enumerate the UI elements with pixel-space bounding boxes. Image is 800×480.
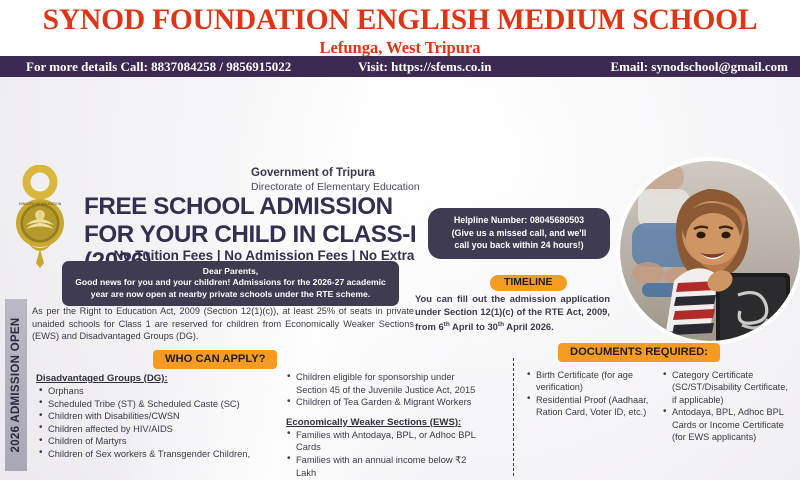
- poster-body: 2026 ADMISSION OPEN MINISTRY OF EDUCATIO…: [0, 77, 800, 480]
- list-item: Children with Disabilities/CWSN: [36, 410, 284, 423]
- dear-parents-body: Good news for you and your children! Adm…: [75, 277, 386, 298]
- rte-act-note: As per the Right to Education Act, 2009 …: [32, 305, 414, 343]
- list-item: Children eligible for sponsorship under …: [286, 371, 486, 396]
- disadvantaged-groups-title: Disadvantaged Groups (DG):: [36, 373, 284, 384]
- government-heading: Government of Tripura Directorate of Ele…: [251, 166, 420, 194]
- section-divider: [513, 358, 514, 476]
- timeline-pill: TIMELINE: [490, 275, 567, 291]
- list-item: Category Certificate (SC/ST/Disability C…: [662, 369, 792, 406]
- government-line-2: Directorate of Elementary Education: [251, 180, 420, 194]
- contact-phone: For more details Call: 8837084258 / 9856…: [0, 59, 291, 75]
- list-item: Children of Sex workers & Transgender Ch…: [36, 448, 284, 461]
- disadvantaged-groups-column: Disadvantaged Groups (DG): OrphansSchedu…: [36, 373, 284, 461]
- admission-open-ribbon-label: 2026 ADMISSION OPEN: [10, 317, 22, 452]
- list-item: Residential Proof (Aadhaar, Ration Card,…: [526, 394, 656, 419]
- school-header: SYNOD FOUNDATION ENGLISH MEDIUM SCHOOL L…: [0, 0, 800, 56]
- tripura-government-emblem-icon: MINISTRY OF EDUCATION: [6, 165, 74, 269]
- list-item: Scheduled Tribe (ST) & Scheduled Caste (…: [36, 398, 284, 411]
- list-item: Families with Antodaya, BPL, or Adhoc BP…: [286, 429, 486, 454]
- school-location: Lefunga, West Tripura: [0, 37, 800, 57]
- list-item: Children of Tea Garden & Migrant Workers: [286, 396, 486, 409]
- who-can-apply-pill: WHO CAN APPLY?: [153, 350, 277, 369]
- helpline-note-line-2: call you back within 24 hours!): [436, 239, 602, 252]
- list-item: Antodaya, BPL, Adhoc BPL Cards or Income…: [662, 406, 792, 443]
- list-item: Children affected by HIV/AIDS: [36, 423, 284, 436]
- disadvantaged-groups-list-continued: Children eligible for sponsorship under …: [286, 371, 486, 409]
- list-item: Children of Martyrs: [36, 435, 284, 448]
- ews-list: Families with Antodaya, BPL, or Adhoc BP…: [286, 429, 486, 480]
- documents-required-columns: Birth Certificate (for age verification)…: [526, 369, 794, 443]
- documents-column-2: Category Certificate (SC/ST/Disability C…: [662, 369, 792, 443]
- contact-bar: For more details Call: 8837084258 / 9856…: [0, 56, 800, 77]
- timeline-text: You can fill out the admission applicati…: [415, 293, 610, 334]
- dear-parents-title: Dear Parents,: [72, 266, 389, 277]
- helpline-card: Helpline Number: 08045680503 (Give us a …: [428, 208, 610, 259]
- government-line-1: Government of Tripura: [251, 166, 420, 180]
- documents-list-1: Birth Certificate (for age verification)…: [526, 369, 656, 419]
- timeline-text-b: April to 30: [450, 321, 498, 332]
- school-name: SYNOD FOUNDATION ENGLISH MEDIUM SCHOOL: [0, 0, 800, 37]
- timeline-text-c: April 2026.: [504, 321, 554, 332]
- admission-open-ribbon: 2026 ADMISSION OPEN: [5, 299, 27, 471]
- ews-title: Economically Weaker Sections (EWS):: [286, 417, 486, 428]
- list-item: Orphans: [36, 385, 284, 398]
- documents-required-pill: DOCUMENTS REQUIRED:: [558, 343, 720, 362]
- dear-parents-card: Dear Parents, Good news for you and your…: [62, 261, 399, 306]
- who-can-apply-right-column: Children eligible for sponsorship under …: [286, 371, 486, 480]
- contact-email[interactable]: Email: synodschool@gmail.com: [611, 59, 789, 75]
- documents-list-2: Category Certificate (SC/ST/Disability C…: [662, 369, 792, 443]
- disadvantaged-groups-list: OrphansScheduled Tribe (ST) & Scheduled …: [36, 385, 284, 461]
- student-photo: [620, 161, 800, 341]
- contact-website[interactable]: Visit: https://sfems.co.in: [358, 59, 492, 75]
- helpline-note-line-1: (Give us a missed call, and we'll: [436, 227, 602, 240]
- helpline-number: Helpline Number: 08045680503: [436, 214, 602, 227]
- svg-text:MINISTRY OF EDUCATION: MINISTRY OF EDUCATION: [19, 202, 62, 206]
- documents-column-1: Birth Certificate (for age verification)…: [526, 369, 656, 443]
- list-item: Birth Certificate (for age verification): [526, 369, 656, 394]
- list-item: Families with an annual income below ₹2 …: [286, 454, 486, 479]
